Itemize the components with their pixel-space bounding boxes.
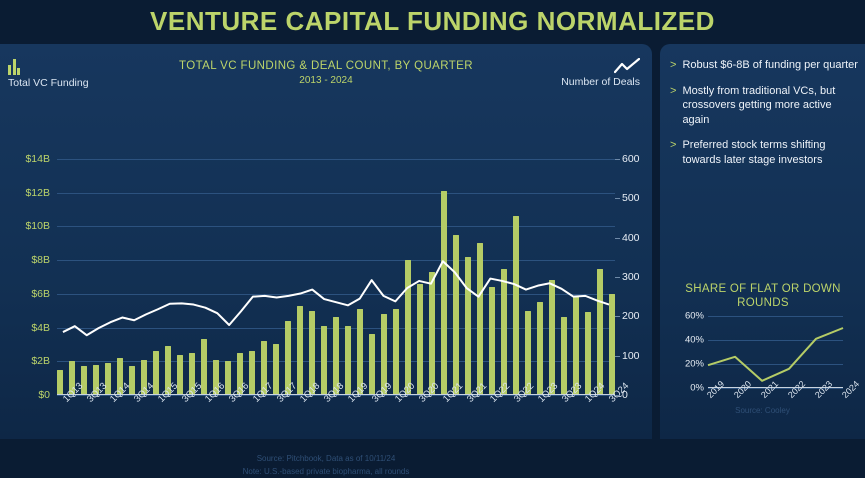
y-axis-tick-mark-right	[615, 198, 620, 199]
main-chart-panel: Total VC Funding Number of Deals TOTAL V…	[0, 44, 652, 439]
mini-y-axis-tick: 0%	[668, 383, 704, 394]
y-axis-tick-mark-right	[615, 395, 620, 396]
slide-title-bar: VENTURE CAPITAL FUNDING NORMALIZED	[0, 0, 865, 42]
flat-down-rounds-line	[708, 316, 843, 388]
mini-y-axis-tick: 60%	[668, 311, 704, 322]
mini-chart-title: SHARE OF FLAT OR DOWN ROUNDS	[668, 282, 858, 310]
mini-y-axis-tick: 20%	[668, 359, 704, 370]
chart-subtitle: 2013 - 2024	[0, 75, 652, 86]
slide-root: VENTURE CAPITAL FUNDING NORMALIZED Total…	[0, 0, 865, 439]
mini-chart-source: Source: Cooley	[660, 406, 865, 415]
bullet-item: >Robust $6-8B of funding per quarter	[670, 58, 860, 73]
y-axis-tick-mark-right	[615, 316, 620, 317]
deal-count-line	[57, 159, 615, 395]
y-axis-tick-left: $12B	[2, 187, 50, 199]
bullet-text: Robust $6-8B of funding per quarter	[682, 58, 858, 73]
legend-total-vc-funding: Total VC Funding	[8, 58, 89, 89]
chevron-right-icon: >	[670, 138, 676, 167]
bullet-list: >Robust $6-8B of funding per quarter>Mos…	[670, 58, 860, 178]
y-axis-tick-mark-right	[615, 238, 620, 239]
bullet-text: Mostly from traditional VCs, but crossov…	[682, 84, 860, 128]
footnotes: Source: Pitchbook, Data as of 10/11/24 N…	[0, 452, 652, 478]
y-axis-tick-left: $4B	[2, 322, 50, 334]
y-axis-tick-left: $8B	[2, 254, 50, 266]
y-axis-tick-left: $14B	[2, 153, 50, 165]
y-axis-tick-left: $0	[2, 389, 50, 401]
bullet-item: >Mostly from traditional VCs, but crosso…	[670, 84, 860, 128]
mini-plot-area	[708, 316, 843, 388]
main-plot-area	[57, 159, 615, 395]
bar-chart-icon	[8, 58, 89, 75]
y-axis-tick-mark-right	[615, 159, 620, 160]
y-axis-tick-left: $2B	[2, 355, 50, 367]
legend-right-label: Number of Deals	[561, 76, 640, 88]
line-chart-icon	[561, 58, 640, 74]
chart-header: TOTAL VC FUNDING & DEAL COUNT, BY QUARTE…	[0, 60, 652, 86]
y-axis-tick-mark-right	[615, 277, 620, 278]
page-title: VENTURE CAPITAL FUNDING NORMALIZED	[150, 6, 715, 37]
bullet-text: Preferred stock terms shifting towards l…	[682, 138, 860, 167]
legend-left-label: Total VC Funding	[8, 77, 89, 89]
chevron-right-icon: >	[670, 58, 676, 73]
x-axis-labels: 1Q133Q131Q143Q141Q153Q151Q163Q161Q173Q17…	[57, 397, 615, 443]
methodology-note: Note: U.S.-based private biopharma, all …	[0, 465, 652, 478]
legend-number-of-deals: Number of Deals	[561, 58, 640, 88]
chevron-right-icon: >	[670, 84, 676, 128]
bullet-item: >Preferred stock terms shifting towards …	[670, 138, 860, 167]
y-axis-tick-left: $10B	[2, 220, 50, 232]
mini-x-axis-tick-label: 2024	[840, 379, 861, 400]
y-axis-tick-left: $6B	[2, 288, 50, 300]
source-note: Source: Pitchbook, Data as of 10/11/24	[0, 452, 652, 465]
mini-y-axis-tick: 40%	[668, 335, 704, 346]
takeaways-panel: >Robust $6-8B of funding per quarter>Mos…	[660, 44, 865, 439]
y-axis-tick-mark-right	[615, 356, 620, 357]
chart-title: TOTAL VC FUNDING & DEAL COUNT, BY QUARTE…	[0, 60, 652, 72]
